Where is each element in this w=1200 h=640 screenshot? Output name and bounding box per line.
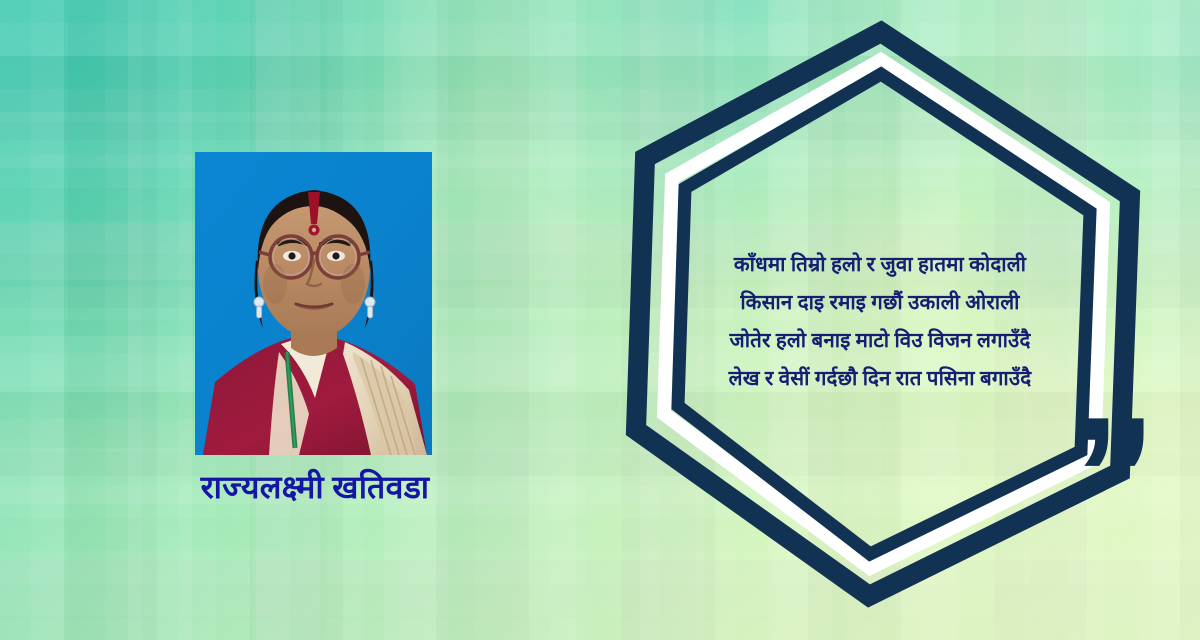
- closing-quote-icon: ”: [1072, 392, 1152, 560]
- poster-canvas: राज्यलक्ष्मी खतिवडा काँधमा तिम्रो हलो र …: [0, 0, 1200, 640]
- quote-line-2: किसान दाइ रमाइ गछौं उकाली ओराली: [645, 284, 1115, 322]
- quote-line-1: काँधमा तिम्रो हलो र जुवा हातमा कोदाली: [645, 246, 1115, 284]
- quote-text-block: काँधमा तिम्रो हलो र जुवा हातमा कोदाली कि…: [645, 246, 1115, 398]
- portrait-photo: [195, 152, 432, 455]
- portrait-name-label: राज्यलक्ष्मी खतिवडा: [120, 465, 510, 508]
- quote-line-3: जोतेर हलो बनाइ माटो विउ विजन लगाउँदै: [645, 322, 1115, 360]
- portrait-photo-frame: [195, 152, 432, 455]
- quote-line-4: लेख र वेसीं गर्दछौ दिन रात पसिना बगाउँदै: [645, 360, 1115, 398]
